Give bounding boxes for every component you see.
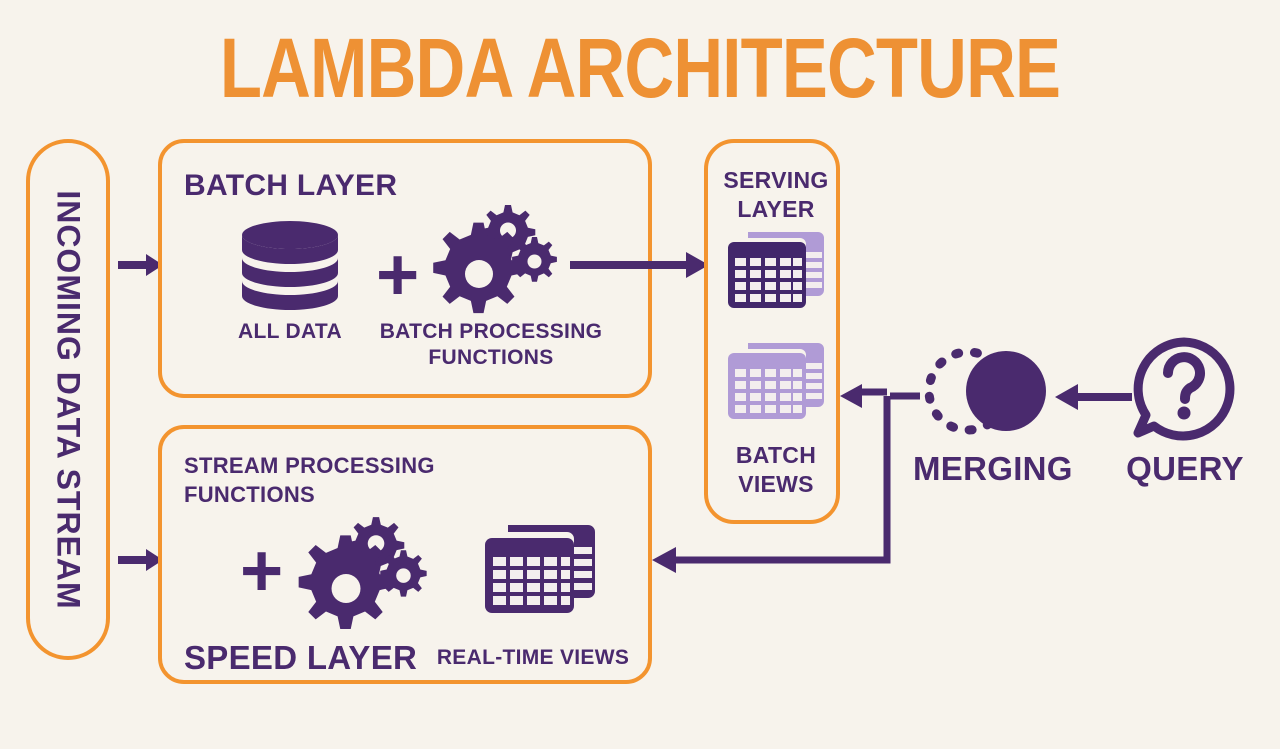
arrow-query-to-merging	[1053, 383, 1133, 411]
speed-layer-label: SPEED LAYER	[184, 639, 417, 677]
batch-processing-functions-label: BATCH PROCESSING FUNCTIONS	[346, 319, 636, 371]
serving-layer-heading: SERVING LAYER	[708, 166, 844, 224]
gears-icon	[316, 517, 434, 629]
table-views-icon	[484, 525, 596, 615]
query-label: QUERY	[1120, 450, 1250, 488]
database-icon	[240, 220, 340, 310]
speed-layer-box: STREAM PROCESSING FUNCTIONS +	[158, 425, 652, 684]
real-time-views-label: REAL-TIME VIEWS	[428, 645, 638, 671]
batch-plus-sign: +	[376, 238, 419, 312]
merging-label: MERGING	[913, 450, 1068, 488]
overlapping-circles-icon	[922, 340, 1052, 442]
page-title: LAMBDA ARCHITECTURE	[115, 22, 1165, 114]
speech-bubble-question-icon	[1132, 337, 1236, 441]
arrow-batch-to-serving	[570, 250, 710, 280]
all-data-label: ALL DATA	[215, 319, 365, 345]
incoming-data-stream-box: INCOMING DATA STREAM	[26, 139, 110, 660]
gears-icon	[450, 205, 564, 313]
stream-processing-functions-label: STREAM PROCESSING FUNCTIONS	[184, 451, 484, 509]
batch-layer-heading: BATCH LAYER	[184, 169, 397, 203]
speed-plus-sign: +	[240, 534, 283, 608]
table-views-icon-dark	[726, 232, 826, 310]
incoming-data-stream-label: INCOMING DATA STREAM	[50, 190, 87, 609]
infographic-canvas: LAMBDA ARCHITECTURE INCOMING DATA STREAM…	[0, 0, 1280, 749]
arrow-merging-to-layers	[650, 380, 930, 580]
